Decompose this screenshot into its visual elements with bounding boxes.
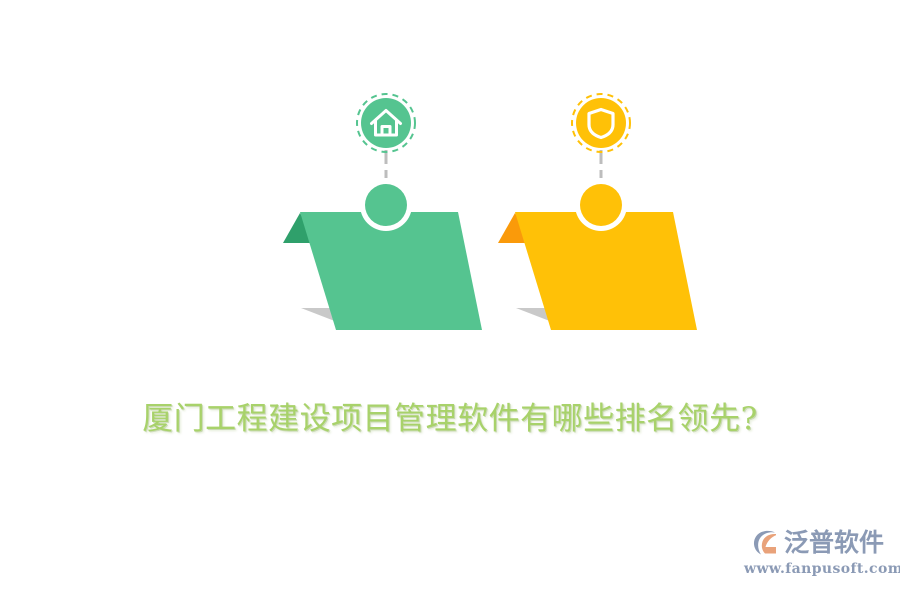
page-canvas: 厦门工程建设项目管理软件有哪些排名领先? 泛普软件 www.fanpusoft.… [0, 0, 900, 600]
panel-yellow-badge[interactable] [576, 98, 626, 148]
page-title: 厦门工程建设项目管理软件有哪些排名领先? [0, 396, 900, 442]
panel-green-knob [365, 184, 407, 226]
panel-yellow-knob [580, 184, 622, 226]
infographic-stage [0, 0, 900, 380]
panel-yellow[interactable] [498, 94, 697, 330]
panel-green-badge[interactable] [361, 98, 411, 148]
watermark-brand-name: 泛普软件 [784, 528, 884, 558]
watermark-url: www.fanpusoft.com [744, 560, 884, 578]
panel-green[interactable] [283, 94, 482, 330]
watermark-logo: 泛普软件 www.fanpusoft.com [744, 526, 884, 584]
fanpu-logo-mark [751, 528, 781, 558]
